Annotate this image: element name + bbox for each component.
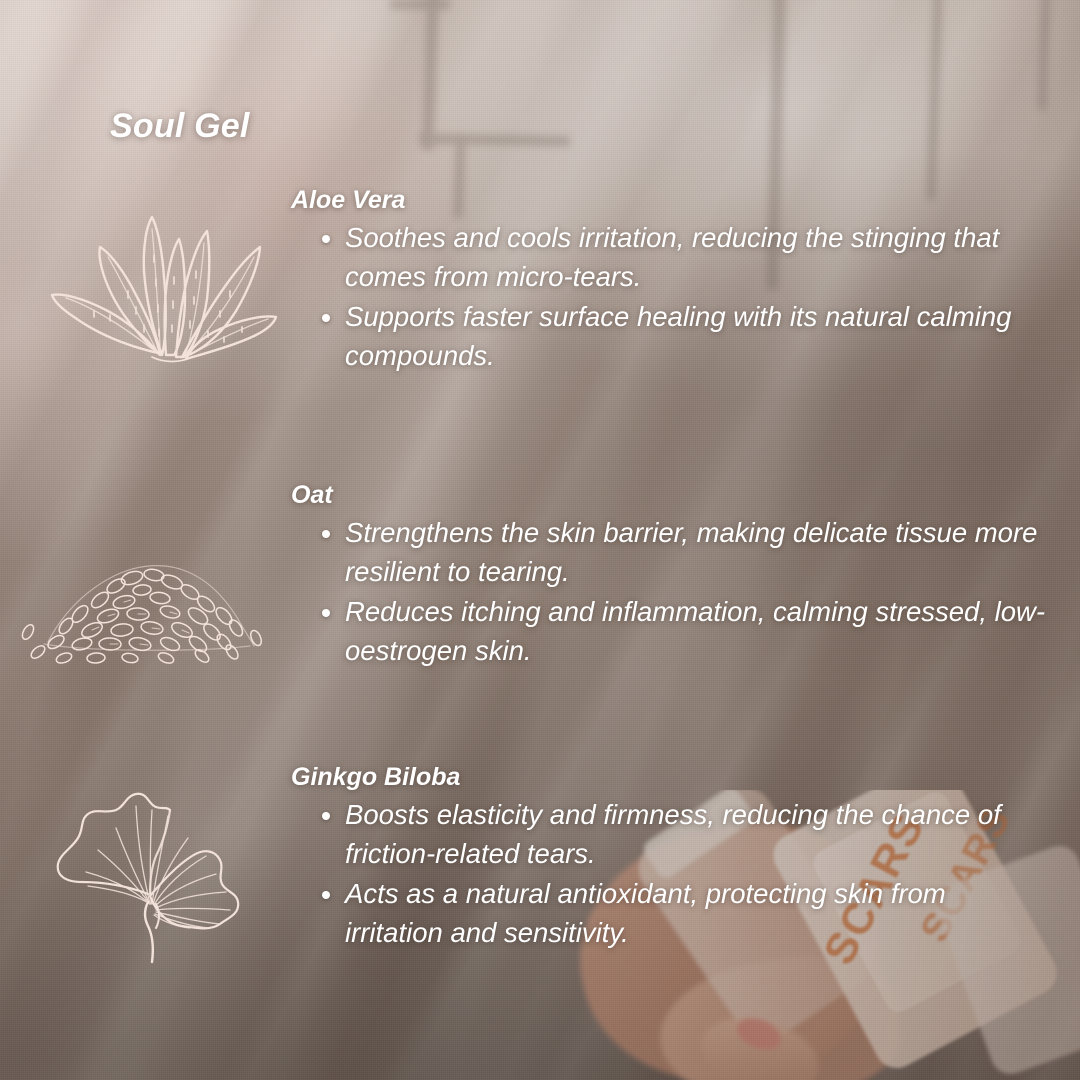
- bullet-icon: [322, 235, 330, 243]
- benefit-text: Acts as a natural antioxidant, protectin…: [345, 878, 946, 948]
- ingredient-name: Oat: [291, 480, 1051, 511]
- bullet-icon: [322, 891, 330, 899]
- bullet-icon: [322, 314, 330, 322]
- ingredient-body-oat: Oat Strengthens the skin barrier, making…: [291, 480, 1051, 671]
- ingredient-benefit-list: Boosts elasticity and firmness, reducing…: [291, 795, 1051, 952]
- list-item: Reduces itching and inflammation, calmin…: [291, 592, 1051, 670]
- aloe-vera-icon: [40, 195, 280, 375]
- page-title: Soul Gel: [110, 108, 250, 145]
- list-item: Strengthens the skin barrier, making del…: [291, 513, 1051, 591]
- list-item: Soothes and cools irritation, reducing t…: [291, 218, 1051, 296]
- ingredient-body-aloe-vera: Aloe Vera Soothes and cools irritation, …: [291, 185, 1051, 376]
- ingredient-benefit-list: Soothes and cools irritation, reducing t…: [291, 218, 1051, 375]
- benefit-text: Boosts elasticity and firmness, reducing…: [345, 799, 1001, 869]
- bullet-icon: [322, 609, 330, 617]
- poster-content: Soul Gel: [0, 0, 1080, 1080]
- oat-grains-icon: [20, 520, 270, 670]
- benefit-text: Supports faster surface healing with its…: [345, 301, 1011, 371]
- benefit-text: Soothes and cools irritation, reducing t…: [345, 222, 999, 292]
- list-item: Supports faster surface healing with its…: [291, 297, 1051, 375]
- poster-canvas: SCARS SCARS Soul Gel: [0, 0, 1080, 1080]
- bullet-icon: [322, 812, 330, 820]
- ingredient-benefit-list: Strengthens the skin barrier, making del…: [291, 513, 1051, 670]
- ingredient-body-ginkgo-biloba: Ginkgo Biloba Boosts elasticity and firm…: [291, 762, 1051, 953]
- ingredient-name: Aloe Vera: [291, 185, 1051, 216]
- list-item: Acts as a natural antioxidant, protectin…: [291, 874, 1051, 952]
- benefit-text: Strengthens the skin barrier, making del…: [345, 517, 1037, 587]
- list-item: Boosts elasticity and firmness, reducing…: [291, 795, 1051, 873]
- benefit-text: Reduces itching and inflammation, calmin…: [345, 596, 1045, 666]
- ingredient-name: Ginkgo Biloba: [291, 762, 1051, 793]
- ginkgo-leaf-icon: [30, 776, 260, 966]
- bullet-icon: [322, 530, 330, 538]
